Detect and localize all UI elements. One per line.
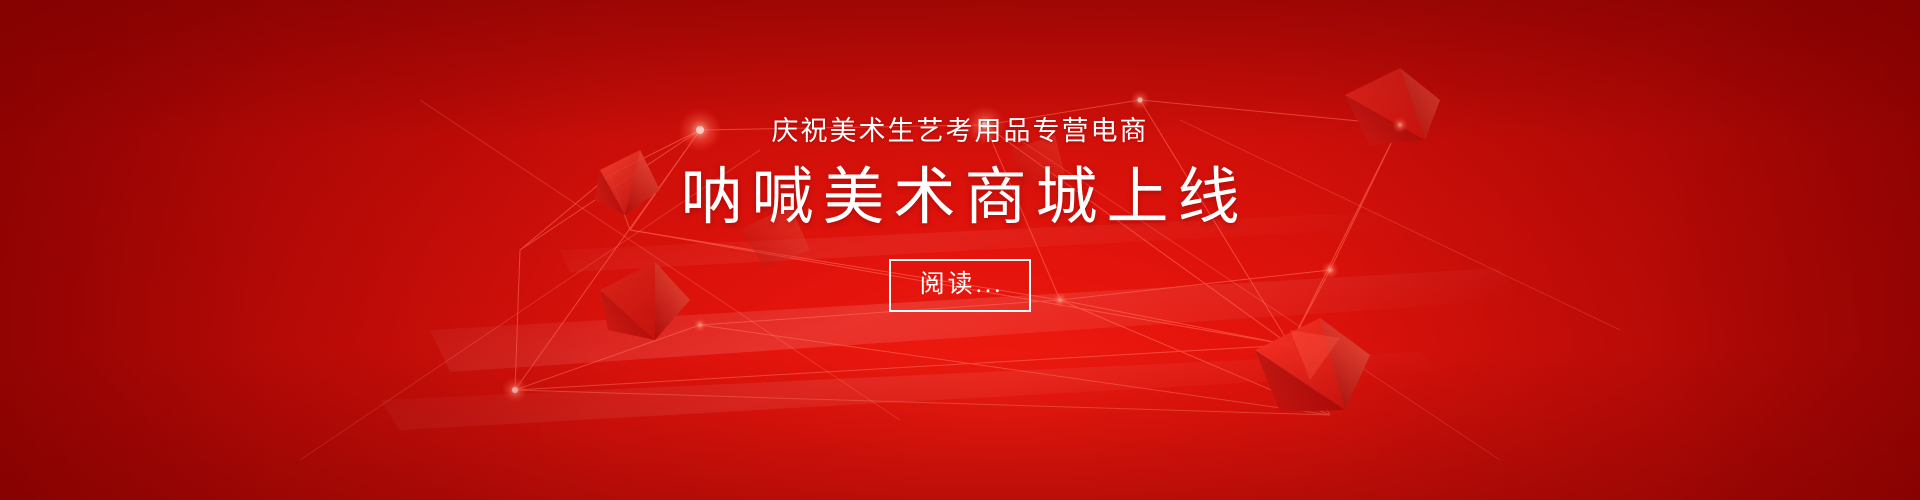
cta-container: 阅读... bbox=[889, 259, 1032, 312]
banner-headline: 呐喊美术商城上线 bbox=[671, 167, 1248, 229]
banner-content: 庆祝美术生艺考用品专营电商 呐喊美术商城上线 阅读... bbox=[0, 0, 1920, 500]
banner-subtitle: 庆祝美术生艺考用品专营电商 bbox=[772, 118, 1149, 145]
read-more-button[interactable]: 阅读... bbox=[889, 259, 1032, 312]
hero-banner: 庆祝美术生艺考用品专营电商 呐喊美术商城上线 阅读... bbox=[0, 0, 1920, 500]
